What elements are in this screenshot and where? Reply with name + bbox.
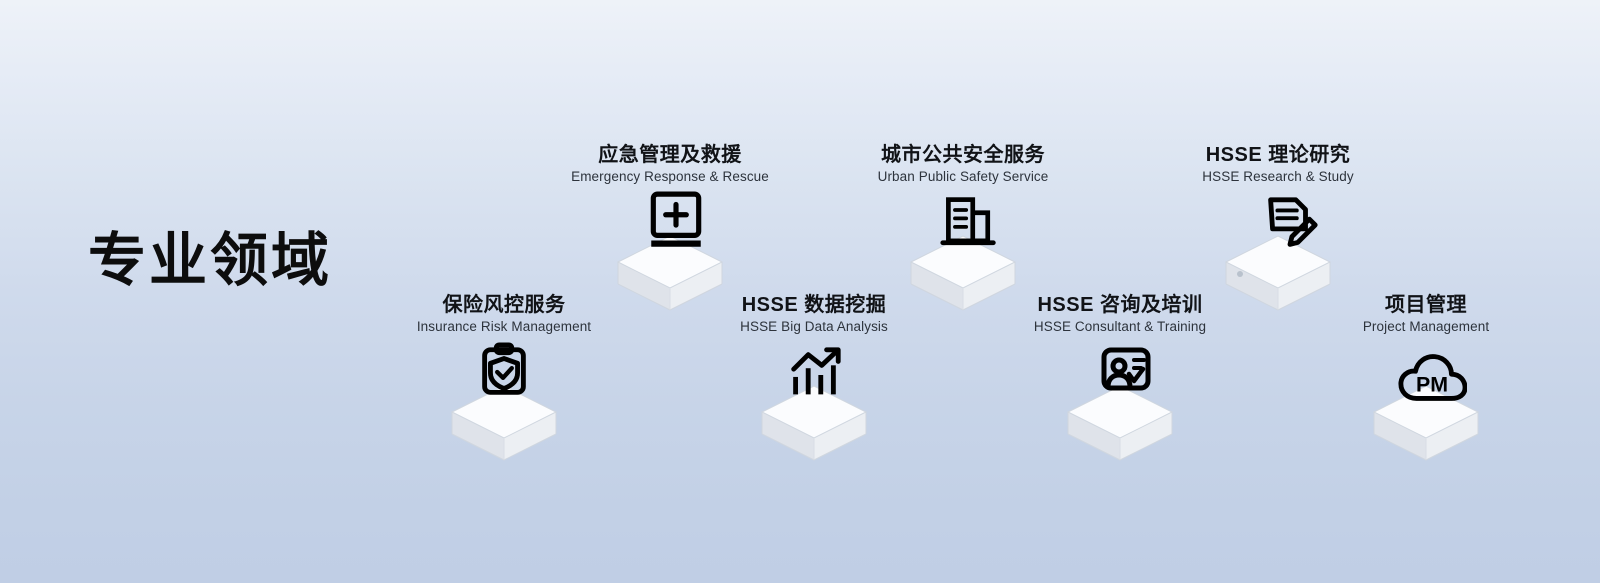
pillar-label-en: Insurance Risk Management xyxy=(384,319,624,336)
pillar-hsse-research[interactable]: HSSE 理论研究 HSSE Research & Study xyxy=(1158,144,1398,314)
pillar-insurance-risk[interactable]: 保险风控服务 Insurance Risk Management xyxy=(384,294,624,464)
cloud-pm-icon: PM xyxy=(1397,348,1467,410)
pillar-urban-public-safety[interactable]: 城市公共安全服务 Urban Public Safety Service xyxy=(843,144,1083,314)
city-buildings-icon xyxy=(939,194,999,254)
pillar-label-en: HSSE Research & Study xyxy=(1158,169,1398,186)
id-card-person-check-icon xyxy=(1094,342,1158,406)
pillar-emergency-response[interactable]: 应急管理及救援 Emergency Response & Rescue xyxy=(550,144,790,314)
pillar-label-zh: HSSE 数据挖掘 xyxy=(694,294,934,316)
pillar-plinth-wrap xyxy=(694,346,934,464)
pillar-label-zh: HSSE 理论研究 xyxy=(1158,144,1398,166)
clipboard-shield-check-icon xyxy=(473,342,535,404)
professional-fields-banner: 专业领域 应急管理及救援 Emergency Response & Rescue xyxy=(0,0,1600,583)
pillar-project-management[interactable]: 项目管理 Project Management xyxy=(1306,294,1546,464)
page-title: 专业领域 xyxy=(88,232,332,290)
pillar-label-zh: 城市公共安全服务 xyxy=(843,144,1083,166)
pillar-label-en: Project Management xyxy=(1306,319,1546,336)
pillar-label-zh: HSSE 咨询及培训 xyxy=(1000,294,1240,316)
pillar-label-en: Emergency Response & Rescue xyxy=(550,169,790,186)
first-aid-monitor-icon xyxy=(643,190,709,256)
pillar-plinth-wrap xyxy=(1000,346,1240,464)
document-pencil-icon xyxy=(1259,194,1321,256)
pillar-label-en: HSSE Big Data Analysis xyxy=(694,319,934,336)
bar-chart-trend-icon xyxy=(783,344,845,406)
cloud-pm-label: PM xyxy=(1416,373,1448,397)
pillar-hsse-big-data[interactable]: HSSE 数据挖掘 HSSE Big Data Analysis xyxy=(694,294,934,464)
pillar-label-en: HSSE Consultant & Training xyxy=(1000,319,1240,336)
pillar-label-en: Urban Public Safety Service xyxy=(843,169,1083,186)
pillar-label-zh: 项目管理 xyxy=(1306,294,1546,316)
pillar-plinth-wrap xyxy=(384,346,624,464)
pillar-label-zh: 保险风控服务 xyxy=(384,294,624,316)
pillar-plinth-wrap: PM xyxy=(1306,346,1546,464)
pillar-hsse-consultant[interactable]: HSSE 咨询及培训 HSSE Consultant & Training xyxy=(1000,294,1240,464)
pillar-label-zh: 应急管理及救援 xyxy=(550,144,790,166)
